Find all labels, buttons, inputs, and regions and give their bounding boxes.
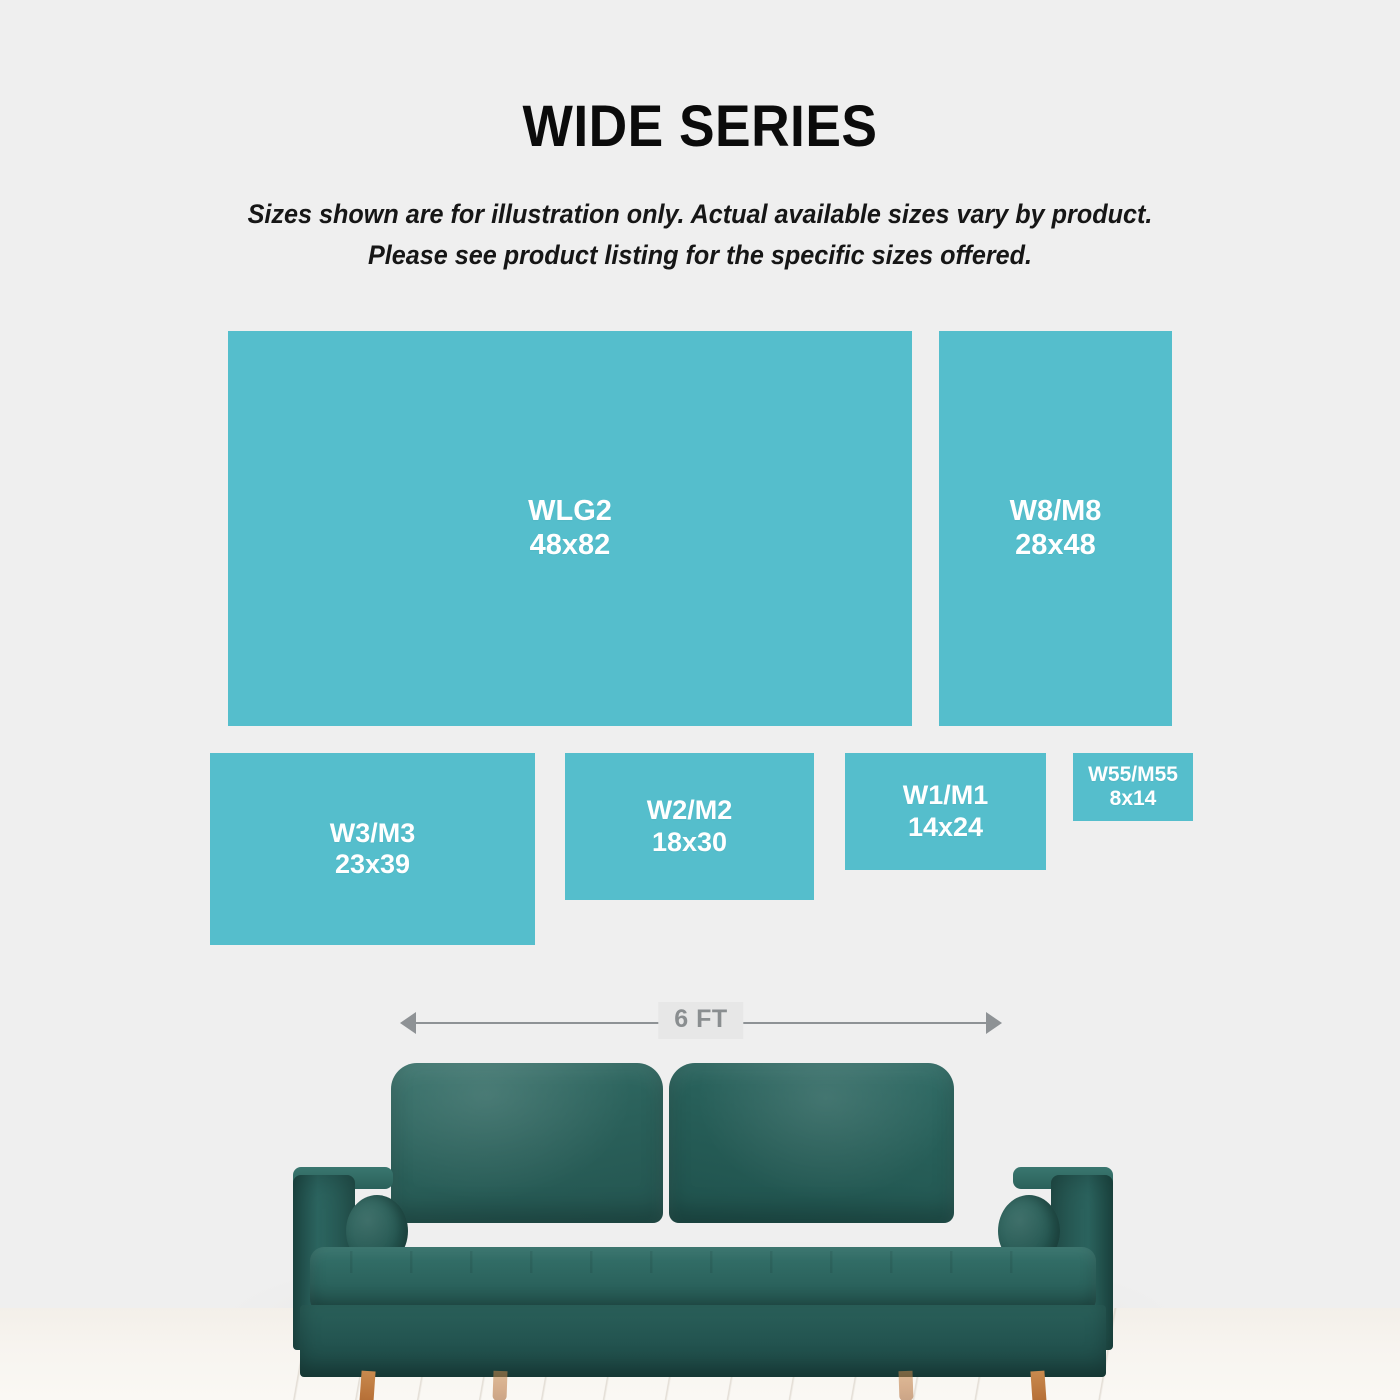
size-box-label: W2/M2 18x30 (647, 795, 733, 858)
size-box-code: W1/M1 (903, 780, 989, 811)
size-box-label: W55/M55 8x14 (1088, 763, 1178, 812)
size-box-dims: 18x30 (647, 827, 733, 858)
sofa-seat-cushion (310, 1247, 1096, 1313)
size-box-label: W1/M1 14x24 (903, 780, 989, 843)
size-box-code: W55/M55 (1088, 763, 1178, 787)
size-box-label: W8/M8 28x48 (1010, 495, 1102, 562)
sofa-leg (358, 1371, 375, 1400)
sofa-leg (492, 1371, 507, 1400)
arrow-left-icon (400, 1012, 416, 1034)
size-box-wlg2[interactable]: WLG2 48x82 (228, 331, 912, 726)
size-comparison-diagram: WLG2 48x82 W8/M8 28x48 W3/M3 23x39 W2/M2… (0, 0, 1400, 980)
size-box-label: W3/M3 23x39 (330, 818, 416, 881)
size-box-w8-m8[interactable]: W8/M8 28x48 (939, 331, 1172, 726)
size-box-code: W8/M8 (1010, 495, 1102, 529)
size-box-w55-m55[interactable]: W55/M55 8x14 (1073, 753, 1193, 821)
size-box-dims: 48x82 (528, 529, 612, 563)
scale-measure-arrow: 6 FT (400, 1002, 1002, 1046)
size-box-w1-m1[interactable]: W1/M1 14x24 (845, 753, 1046, 870)
sofa-back-cushion-right (669, 1063, 954, 1223)
size-box-dims: 14x24 (903, 812, 989, 843)
size-box-w3-m3[interactable]: W3/M3 23x39 (210, 753, 535, 945)
size-box-dims: 28x48 (1010, 529, 1102, 563)
size-box-dims: 8x14 (1088, 787, 1178, 811)
sofa-leg (898, 1371, 913, 1400)
size-box-w2-m2[interactable]: W2/M2 18x30 (565, 753, 814, 900)
sofa-base (300, 1305, 1106, 1377)
measure-label: 6 FT (658, 1002, 743, 1039)
size-box-dims: 23x39 (330, 849, 416, 880)
size-box-code: W3/M3 (330, 818, 416, 849)
arrow-right-icon (986, 1012, 1002, 1034)
sofa-illustration (288, 1055, 1118, 1400)
size-box-code: WLG2 (528, 495, 612, 529)
sofa-back-cushion-left (391, 1063, 663, 1223)
size-box-code: W2/M2 (647, 795, 733, 826)
size-guide-page: WIDE SERIES Sizes shown are for illustra… (0, 0, 1400, 1400)
size-box-label: WLG2 48x82 (528, 495, 612, 562)
